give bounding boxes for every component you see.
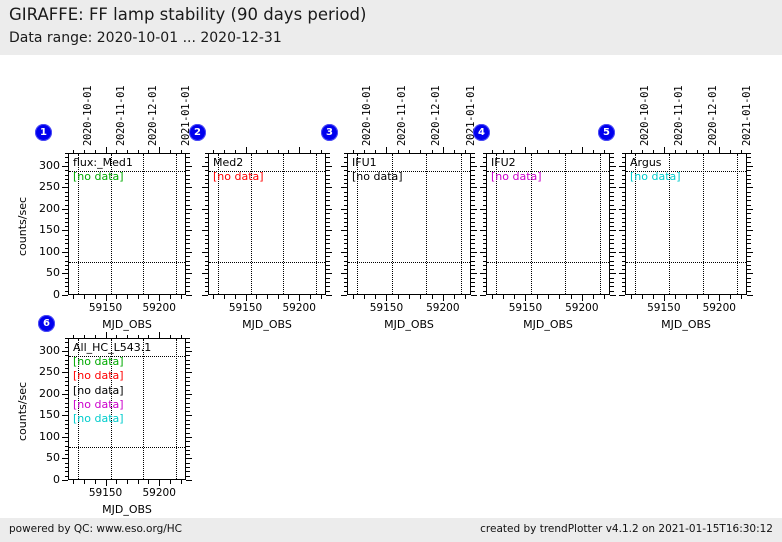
x-tick-mark-top [127, 150, 128, 154]
x-tick-mark [708, 295, 709, 299]
x-tick-label: 59150 [361, 302, 411, 314]
y-tick-mark [62, 209, 68, 210]
y-tick-mark-right [747, 252, 753, 253]
y-tick-mark [619, 295, 625, 296]
y-tick-mark-right [610, 175, 614, 176]
page-subtitle: Data range: 2020-10-01 ... 2020-12-31 [9, 30, 282, 46]
x-tick-mark-top [398, 150, 399, 154]
y-tick-mark [480, 295, 486, 296]
y-tick-mark-right [186, 261, 190, 262]
y-tick-mark [483, 282, 487, 283]
y-tick-mark [65, 364, 69, 365]
y-tick-mark-right [186, 183, 190, 184]
panel-number-badge-3[interactable]: 3 [321, 124, 338, 141]
y-tick-mark-right [326, 269, 330, 270]
header-band: GIRAFFE: FF lamp stability (90 days peri… [0, 0, 782, 55]
y-tick-mark [483, 162, 487, 163]
y-tick-mark-right [610, 265, 614, 266]
y-tick-mark-right [326, 183, 330, 184]
y-tick-mark-right [610, 157, 614, 158]
x-tick-mark-top [386, 147, 387, 153]
y-tick-mark [65, 286, 69, 287]
plot-text-block: IFU2[no data] [491, 156, 542, 184]
plot-no-data-annotation: [no data] [352, 170, 403, 184]
top-date-label: 2020-12-01 [147, 86, 159, 146]
y-tick-mark-right [610, 162, 614, 163]
footer-credit-qc: powered by QC: www.eso.org/HC [9, 523, 182, 535]
y-tick-mark-right [326, 239, 330, 240]
y-tick-mark [483, 256, 487, 257]
y-tick-mark [622, 239, 626, 240]
x-tick-mark [514, 295, 515, 299]
y-tick-mark-right [471, 170, 475, 171]
y-tick-mark [205, 269, 209, 270]
x-tick-mark-top [181, 150, 182, 154]
y-tick-label: 0 [22, 288, 60, 301]
y-tick-mark [483, 243, 487, 244]
x-tick-mark [148, 480, 149, 484]
x-tick-mark-top [514, 150, 515, 154]
x-tick-mark-top [106, 332, 107, 338]
y-tick-mark [65, 153, 69, 154]
y-tick-mark [344, 239, 348, 240]
x-tick-mark [106, 295, 107, 301]
y-tick-mark [65, 162, 69, 163]
x-tick-mark [465, 295, 466, 299]
x-tick-mark [675, 295, 676, 299]
y-tick-mark [205, 261, 209, 262]
x-tick-label: 59150 [221, 302, 271, 314]
x-tick-mark-top [159, 147, 160, 153]
y-tick-mark-right [610, 170, 614, 171]
y-tick-mark-right [471, 239, 475, 240]
y-tick-mark [62, 415, 68, 416]
y-tick-mark-right [747, 248, 751, 249]
y-tick-mark [65, 424, 69, 425]
x-tick-mark [386, 295, 387, 301]
y-tick-mark [622, 235, 626, 236]
x-axis-title: MJD_OBS [68, 503, 186, 516]
y-tick-mark-right [610, 261, 614, 262]
y-tick-mark-right [186, 368, 190, 369]
plot-text-block: flux:_Med1[no data] [73, 156, 133, 184]
y-tick-mark [65, 243, 69, 244]
plot-panel-1: flux:_Med1[no data]5915059200MJD_OBS0501… [68, 153, 186, 295]
y-tick-mark [65, 269, 69, 270]
y-tick-mark [344, 265, 348, 266]
x-tick-mark-top [708, 150, 709, 154]
y-tick-mark [483, 205, 487, 206]
y-tick-mark [65, 239, 69, 240]
y-tick-mark-right [186, 450, 190, 451]
y-tick-mark-right [471, 183, 475, 184]
y-tick-mark-right [186, 441, 190, 442]
y-tick-mark-right [471, 157, 475, 158]
y-tick-mark [483, 192, 487, 193]
y-tick-mark-right [610, 239, 614, 240]
y-tick-mark-right [747, 175, 751, 176]
y-tick-mark [62, 372, 68, 373]
y-tick-mark [483, 265, 487, 266]
x-tick-mark [492, 295, 493, 299]
y-tick-mark [65, 368, 69, 369]
y-tick-mark [202, 230, 208, 231]
x-tick-mark-top [213, 150, 214, 154]
y-tick-mark [344, 200, 348, 201]
y-tick-mark [65, 205, 69, 206]
y-tick-mark-right [471, 196, 475, 197]
x-tick-mark-top [84, 335, 85, 339]
y-tick-mark-right [610, 282, 614, 283]
top-date-label: 2020-12-01 [707, 86, 719, 146]
y-tick-mark-right [471, 218, 475, 219]
y-tick-mark-right [471, 261, 475, 262]
y-tick-mark [202, 252, 208, 253]
x-tick-mark-top [170, 335, 171, 339]
x-tick-mark-top [116, 150, 117, 154]
x-tick-mark [398, 295, 399, 299]
x-tick-label: 59200 [134, 302, 184, 314]
y-tick-mark [622, 192, 626, 193]
y-tick-mark [344, 261, 348, 262]
y-tick-mark [480, 273, 486, 274]
y-tick-mark-right [186, 463, 190, 464]
plot-no-data-annotation: [no data] [491, 170, 542, 184]
gridline-vertical [283, 154, 284, 294]
y-tick-mark-right [186, 433, 190, 434]
x-tick-mark-top [741, 150, 742, 154]
y-tick-mark-right [186, 175, 190, 176]
y-tick-mark-right [610, 243, 614, 244]
x-tick-label: 59200 [134, 487, 184, 499]
y-tick-mark [344, 213, 348, 214]
y-tick-mark [65, 282, 69, 283]
x-tick-mark-top [664, 147, 665, 153]
y-tick-mark [205, 243, 209, 244]
y-tick-mark [65, 265, 69, 266]
y-tick-mark-right [747, 269, 751, 270]
y-tick-mark-right [326, 286, 330, 287]
plot-frame: Med2[no data] [208, 153, 326, 295]
y-tick-mark [205, 226, 209, 227]
x-tick-mark [73, 480, 74, 484]
y-tick-mark [622, 179, 626, 180]
y-tick-mark-right [471, 295, 477, 296]
x-axis-title: MJD_OBS [68, 318, 186, 331]
plot-frame: All_HC_L543.1[no data][no data][no data]… [68, 338, 186, 480]
x-tick-mark [653, 295, 654, 299]
y-tick-mark-right [326, 218, 330, 219]
y-tick-mark [65, 218, 69, 219]
x-axis-title: MJD_OBS [486, 318, 610, 331]
y-tick-mark-right [186, 347, 190, 348]
x-tick-label: 59200 [274, 302, 324, 314]
x-tick-mark-top [653, 150, 654, 154]
y-tick-mark [344, 218, 348, 219]
panel-number-badge-6[interactable]: 6 [38, 315, 55, 332]
y-tick-mark-right [186, 243, 190, 244]
y-tick-mark-right [186, 226, 190, 227]
y-tick-mark [65, 157, 69, 158]
x-tick-mark [95, 480, 96, 484]
y-tick-mark-right [471, 226, 475, 227]
y-tick-mark-right [186, 411, 190, 412]
y-tick-mark-right [186, 471, 190, 472]
y-tick-mark-right [471, 179, 475, 180]
y-tick-mark [341, 273, 347, 274]
y-tick-mark-right [471, 286, 475, 287]
x-tick-mark [719, 295, 720, 301]
y-tick-mark [622, 157, 626, 158]
y-tick-mark [344, 226, 348, 227]
y-tick-mark-right [186, 222, 190, 223]
y-tick-mark [202, 273, 208, 274]
y-tick-mark-right [186, 196, 190, 197]
y-tick-mark-right [610, 196, 614, 197]
x-tick-mark-top [310, 150, 311, 154]
y-tick-mark [62, 351, 68, 352]
gridline-horizontal [348, 262, 470, 263]
y-tick-mark-right [471, 248, 475, 249]
y-tick-mark [622, 243, 626, 244]
y-tick-mark-right [186, 338, 190, 339]
y-tick-mark [344, 282, 348, 283]
top-date-label: 2020-10-01 [639, 86, 651, 146]
y-tick-mark [65, 398, 69, 399]
y-tick-mark [205, 278, 209, 279]
y-tick-mark-right [610, 226, 614, 227]
y-tick-mark-right [186, 282, 190, 283]
x-tick-mark-top [686, 150, 687, 154]
x-tick-mark [571, 295, 572, 299]
y-tick-mark [622, 205, 626, 206]
plot-panel-3: IFU1[no data]5915059200MJD_OBS2020-10-01… [347, 153, 471, 295]
x-tick-mark-top [73, 150, 74, 154]
y-tick-mark-right [186, 278, 190, 279]
x-tick-mark [537, 295, 538, 299]
y-tick-mark-right [186, 235, 190, 236]
y-tick-mark [202, 295, 208, 296]
x-tick-mark [256, 295, 257, 299]
y-tick-mark [62, 273, 68, 274]
plot-no-data-annotation: [no data] [213, 170, 264, 184]
plot-dataset-title: IFU1 [352, 156, 403, 170]
y-tick-mark [622, 196, 626, 197]
gridline-horizontal [209, 262, 325, 263]
plot-text-block: Argus[no data] [630, 156, 681, 184]
y-tick-mark-right [610, 248, 614, 249]
y-tick-mark [65, 420, 69, 421]
y-tick-mark-right [471, 213, 475, 214]
x-tick-mark [409, 295, 410, 299]
y-tick-mark-right [747, 239, 751, 240]
gridline-vertical [316, 154, 317, 294]
y-tick-mark [622, 256, 626, 257]
x-tick-mark-top [593, 150, 594, 154]
y-tick-mark-right [186, 385, 190, 386]
y-tick-mark [344, 205, 348, 206]
plot-dataset-title: IFU2 [491, 156, 542, 170]
y-tick-mark [344, 278, 348, 279]
y-tick-mark [65, 428, 69, 429]
panel-number-badge-2[interactable]: 2 [189, 124, 206, 141]
x-tick-mark-top [492, 150, 493, 154]
plot-dataset-title: Med2 [213, 156, 264, 170]
plot-dataset-title: All_HC_L543.1 [73, 341, 151, 355]
y-axis-title: counts/sec [16, 197, 29, 256]
y-tick-mark-right [326, 261, 330, 262]
y-tick-label: 0 [22, 473, 60, 486]
y-tick-mark [480, 230, 486, 231]
x-tick-mark-top [181, 335, 182, 339]
y-tick-mark [622, 213, 626, 214]
panel-number-badge-4[interactable]: 4 [473, 124, 490, 141]
y-tick-mark-right [610, 235, 614, 236]
y-tick-mark [483, 175, 487, 176]
y-tick-mark [344, 192, 348, 193]
x-tick-mark [299, 295, 300, 301]
y-tick-mark-right [326, 222, 330, 223]
y-tick-mark-right [747, 291, 751, 292]
plot-text-block: IFU1[no data] [352, 156, 403, 184]
y-tick-mark-right [610, 295, 616, 296]
y-tick-mark-right [747, 282, 751, 283]
x-tick-mark-top [525, 147, 526, 153]
y-tick-mark [65, 170, 69, 171]
y-tick-mark [65, 222, 69, 223]
x-tick-mark [116, 480, 117, 484]
y-tick-mark-right [186, 467, 190, 468]
y-tick-mark-right [747, 230, 753, 231]
x-tick-mark [106, 480, 107, 486]
y-tick-mark [205, 175, 209, 176]
y-tick-mark [622, 278, 626, 279]
y-tick-mark-right [326, 235, 330, 236]
y-tick-mark [65, 390, 69, 391]
y-tick-mark [622, 248, 626, 249]
y-tick-mark [65, 411, 69, 412]
y-tick-mark [65, 441, 69, 442]
y-tick-mark-right [186, 437, 192, 438]
y-tick-mark-right [186, 157, 190, 158]
plot-no-data-annotation: [no data] [73, 384, 151, 398]
y-tick-mark-right [471, 291, 475, 292]
y-tick-mark-right [610, 256, 614, 257]
gridline-vertical [600, 154, 601, 294]
y-tick-mark [62, 458, 68, 459]
x-tick-mark [148, 295, 149, 299]
y-tick-label: 300 [22, 159, 60, 172]
plot-no-data-annotation: [no data] [73, 355, 151, 369]
y-tick-mark-right [186, 248, 190, 249]
y-tick-mark-right [326, 265, 330, 266]
gridline-vertical [703, 154, 704, 294]
y-tick-mark [205, 286, 209, 287]
y-tick-mark [65, 183, 69, 184]
x-tick-mark-top [631, 150, 632, 154]
x-tick-mark-top [278, 150, 279, 154]
y-tick-mark-right [471, 252, 477, 253]
y-tick-mark [205, 200, 209, 201]
y-tick-mark [205, 183, 209, 184]
y-tick-mark-right [471, 192, 475, 193]
y-tick-mark [62, 437, 68, 438]
y-tick-mark-right [747, 170, 751, 171]
x-tick-label: 59150 [639, 302, 689, 314]
y-tick-mark [205, 213, 209, 214]
y-tick-mark [205, 235, 209, 236]
y-tick-mark-right [186, 162, 190, 163]
y-tick-mark-right [471, 230, 477, 231]
y-tick-mark-right [747, 278, 751, 279]
plot-no-data-annotation: [no data] [73, 398, 151, 412]
y-tick-mark [205, 256, 209, 257]
y-tick-mark-right [186, 372, 192, 373]
y-tick-mark-right [610, 273, 616, 274]
x-tick-label: 59200 [557, 302, 607, 314]
x-tick-mark-top [719, 147, 720, 153]
y-tick-mark [65, 476, 69, 477]
y-tick-mark [205, 248, 209, 249]
y-tick-mark-right [471, 187, 477, 188]
x-tick-mark-top [432, 150, 433, 154]
x-tick-mark-top [675, 150, 676, 154]
x-tick-mark [170, 480, 171, 484]
y-tick-mark [62, 230, 68, 231]
x-tick-label: 59150 [81, 302, 131, 314]
y-tick-mark [483, 226, 487, 227]
y-tick-mark-right [747, 218, 751, 219]
x-tick-mark [503, 295, 504, 299]
y-tick-mark [62, 480, 68, 481]
y-tick-mark [65, 192, 69, 193]
x-tick-mark [604, 295, 605, 299]
x-tick-mark-top [288, 150, 289, 154]
y-tick-mark [65, 347, 69, 348]
y-tick-mark-right [186, 205, 190, 206]
panel-number-badge-1[interactable]: 1 [35, 124, 52, 141]
y-tick-label: 250 [22, 180, 60, 193]
page-title: GIRAFFE: FF lamp stability (90 days peri… [9, 5, 366, 24]
y-tick-mark [483, 179, 487, 180]
y-tick-mark [480, 187, 486, 188]
x-tick-mark [224, 295, 225, 299]
y-tick-mark [341, 252, 347, 253]
y-tick-mark [483, 200, 487, 201]
y-tick-mark [202, 166, 208, 167]
y-tick-mark-right [747, 261, 751, 262]
y-tick-mark-right [186, 213, 190, 214]
x-tick-label: 59150 [500, 302, 550, 314]
panel-number-badge-5[interactable]: 5 [598, 124, 615, 141]
y-tick-mark-right [186, 200, 190, 201]
y-tick-mark [344, 256, 348, 257]
y-tick-mark-right [747, 196, 751, 197]
plot-text-block: Med2[no data] [213, 156, 264, 184]
y-tick-mark [344, 170, 348, 171]
y-tick-mark-right [186, 256, 190, 257]
y-tick-mark [65, 256, 69, 257]
x-tick-mark-top [148, 335, 149, 339]
x-tick-mark [730, 295, 731, 299]
y-tick-mark [65, 450, 69, 451]
y-tick-mark [344, 162, 348, 163]
y-tick-label: 50 [22, 266, 60, 279]
y-tick-mark-right [747, 226, 751, 227]
y-tick-mark-right [326, 226, 330, 227]
y-tick-mark-right [186, 407, 190, 408]
x-tick-mark-top [170, 150, 171, 154]
